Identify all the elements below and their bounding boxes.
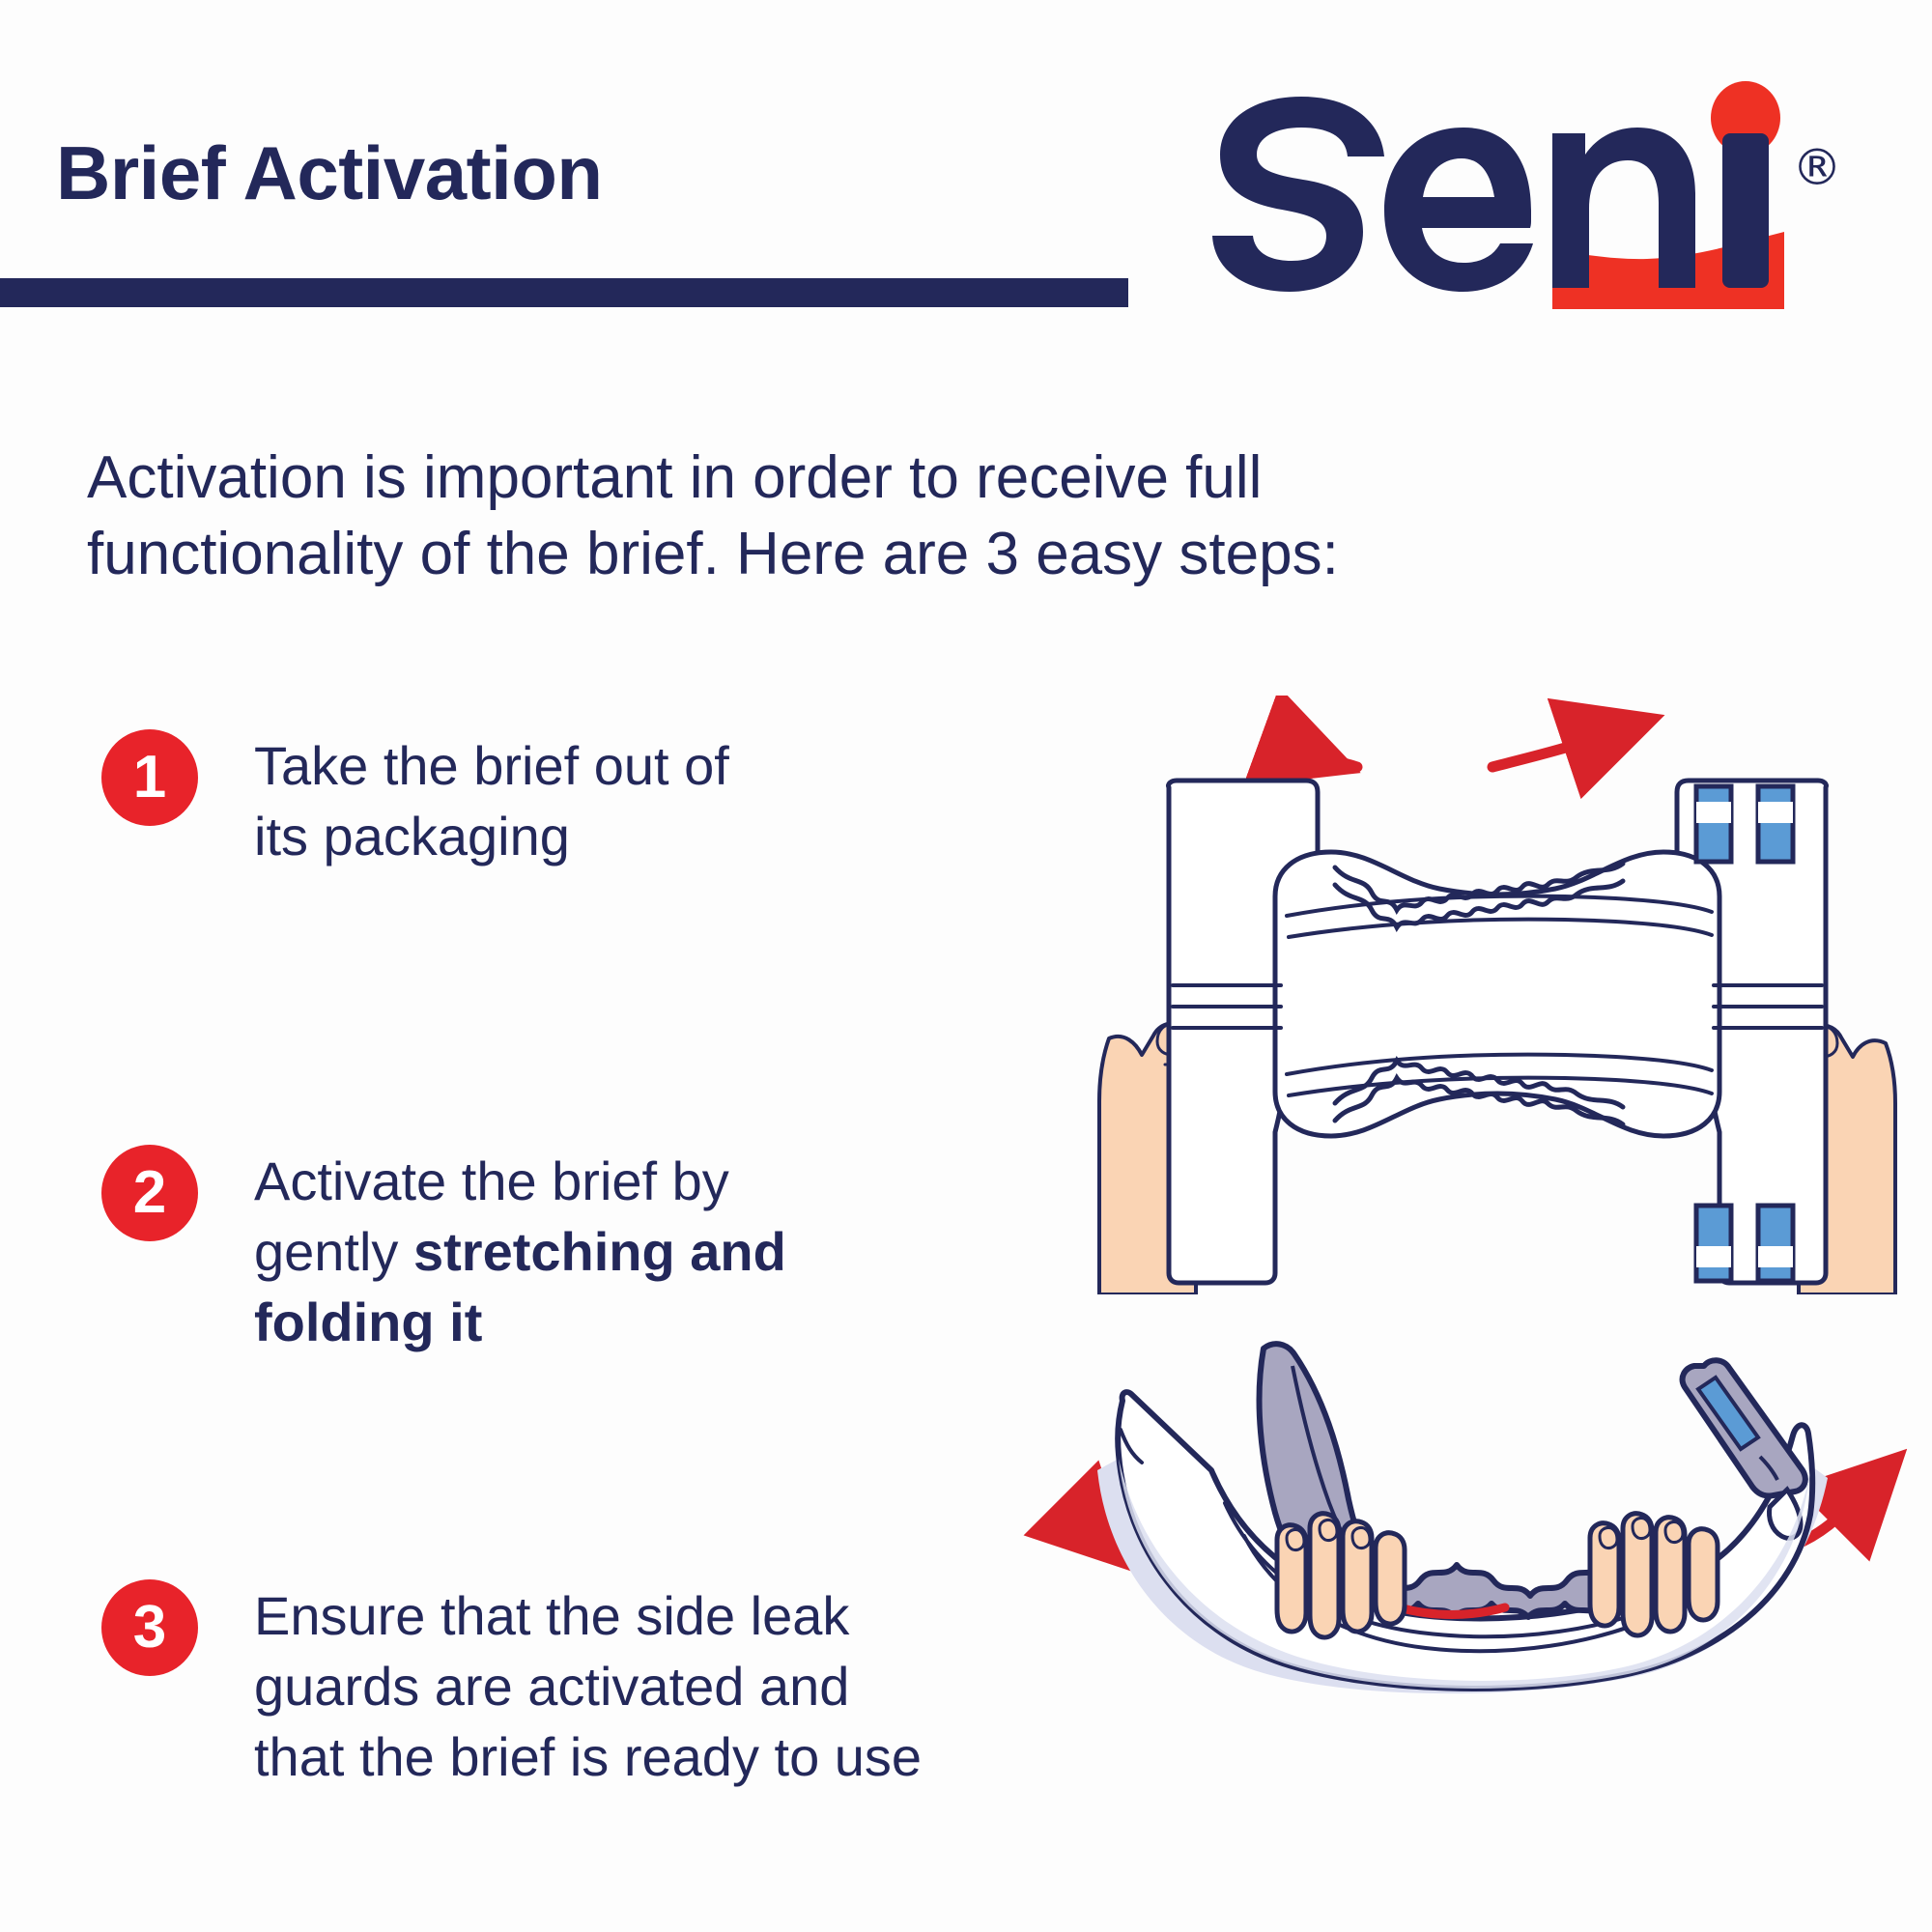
illustration-fold-brief [1005, 1294, 1932, 1748]
brief-tab-upper-1 [1696, 786, 1731, 862]
page-title: Brief Activation [56, 135, 603, 211]
intro-line-2: functionality of the brief. Here are 3 e… [87, 516, 1816, 592]
brief-tab-lower-1 [1696, 1206, 1731, 1281]
step-number-badge: 3 [101, 1579, 198, 1676]
step-number-badge: 2 [101, 1145, 198, 1241]
title-underline-bar [0, 278, 1128, 307]
stretch-arrow-right [1492, 742, 1584, 767]
hand-right-fold [1590, 1514, 1718, 1635]
step-item-3: 3 Ensure that the side leakguards are ac… [101, 1579, 1029, 1792]
poster-canvas: Brief Activation ® Activation is importa… [0, 0, 1932, 1932]
hand-left-fold [1277, 1514, 1405, 1637]
step-item-1: 1 Take the brief out ofits packaging [101, 729, 894, 872]
intro-line-1: Activation is important in order to rece… [87, 440, 1816, 516]
logo-letter-i [1722, 133, 1769, 288]
step-description: Activate the brief bygently stretching a… [254, 1145, 786, 1357]
illustration-stretch-brief [1082, 696, 1913, 1294]
step-number-badge: 1 [101, 729, 198, 826]
seni-logo: ® [1193, 68, 1908, 309]
page-header: Brief Activation ® [0, 0, 1932, 348]
step-description: Ensure that the side leakguards are acti… [254, 1579, 922, 1792]
stretch-arrow-left [1281, 744, 1357, 767]
logo-letter-e [1384, 128, 1533, 292]
registered-trademark-icon: ® [1792, 143, 1842, 193]
intro-paragraph: Activation is important in order to rece… [87, 440, 1816, 593]
brief-tab-fold [1683, 1360, 1805, 1538]
brief-tab-upper-2 [1758, 786, 1793, 862]
logo-letter-s [1212, 97, 1384, 292]
brief-tab-lower-2 [1758, 1206, 1793, 1281]
step-item-2: 2 Activate the brief bygently stretching… [101, 1145, 932, 1357]
step-description: Take the brief out ofits packaging [254, 729, 729, 872]
